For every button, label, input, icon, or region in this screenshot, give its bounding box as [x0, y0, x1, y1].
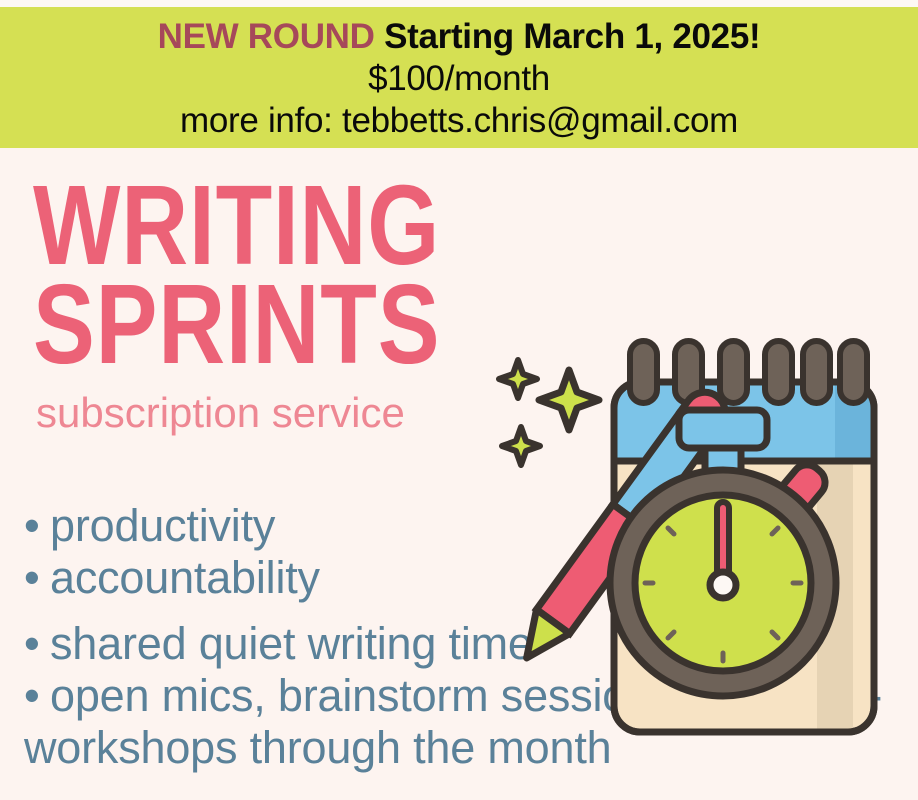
banner-line-1: NEW ROUND Starting March 1, 2025!	[0, 16, 918, 58]
sparkles-icon	[499, 360, 599, 465]
list-item-label: accountability	[50, 552, 320, 603]
banner-price: $100/month	[0, 58, 918, 100]
list-item-label: shared quiet writing time	[50, 618, 533, 669]
new-round-highlight: NEW ROUND	[158, 17, 375, 56]
list-item-label: productivity	[50, 500, 275, 551]
title-line-sprints: SPRINTS	[33, 275, 440, 374]
notepad-stopwatch-illustration	[483, 333, 903, 748]
banner-line-1-rest: Starting March 1, 2025!	[375, 17, 761, 56]
title-subtitle: subscription service	[36, 388, 530, 438]
bullet-marker-icon: •	[24, 500, 50, 552]
announcement-banner: NEW ROUND Starting March 1, 2025! $100/m…	[0, 7, 918, 148]
bullet-marker-icon: •	[24, 618, 50, 670]
title-block: WRITING SPRINTS subscription service	[33, 176, 530, 438]
bullet-marker-icon: •	[24, 670, 50, 722]
poster-body: WRITING SPRINTS subscription service •pr…	[0, 148, 918, 800]
bullet-marker-icon: •	[24, 552, 50, 604]
banner-contact: more info: tebbetts.chris@gmail.com	[0, 100, 918, 142]
poster-root: NEW ROUND Starting March 1, 2025! $100/m…	[0, 0, 918, 800]
top-cream-strip	[0, 0, 918, 7]
